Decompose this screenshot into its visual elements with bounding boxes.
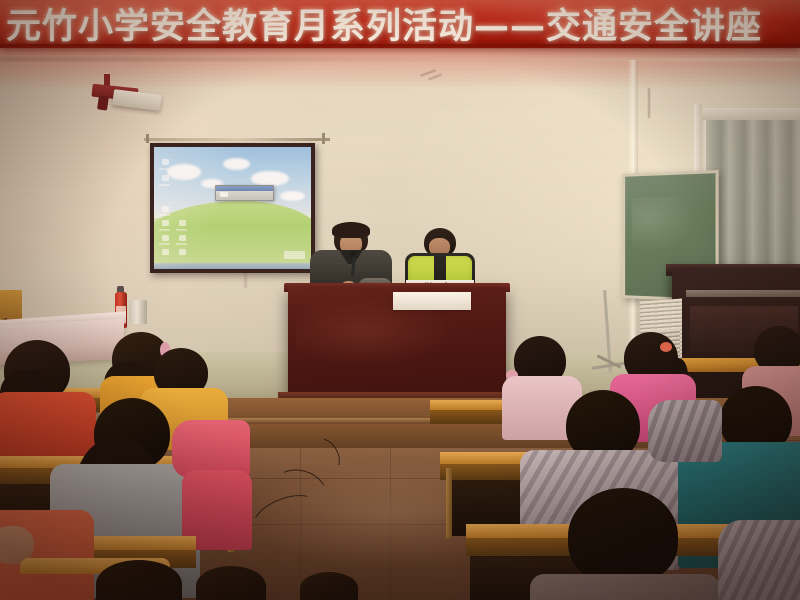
event-banner: 元竹小学安全教育月系列活动——交通安全讲座	[0, 0, 800, 48]
desktop-dialog-window[interactable]	[215, 185, 274, 202]
classroom-photo: 警察	[0, 0, 800, 600]
desk-leg	[446, 468, 452, 538]
wall-banner-glow	[0, 44, 800, 90]
ceiling-line	[0, 58, 800, 61]
screen-hook-right	[322, 133, 325, 144]
desktop-icon[interactable]	[162, 220, 169, 226]
dialog-icon	[220, 192, 228, 197]
student-top	[530, 574, 720, 600]
desktop-icon[interactable]	[162, 175, 169, 181]
screen-rod	[144, 138, 330, 141]
desktop-icon[interactable]	[162, 249, 169, 255]
desktop-icon-label	[159, 214, 170, 216]
chair	[0, 290, 22, 320]
student-top	[718, 520, 800, 600]
desktop-icon-label	[176, 229, 187, 231]
student-head	[568, 488, 678, 584]
system-tray[interactable]	[284, 251, 304, 260]
microphone-icon	[350, 251, 356, 257]
banner-title: 元竹小学安全教育月系列活动——交通安全讲座	[6, 0, 800, 47]
taskbar[interactable]	[154, 263, 311, 269]
projected-desktop	[154, 147, 311, 269]
desktop-icon[interactable]	[179, 249, 186, 255]
desktop-icon[interactable]	[162, 235, 169, 241]
curtain-rail	[700, 108, 800, 120]
cloud-icon	[223, 158, 250, 170]
cloud-icon	[251, 171, 289, 186]
desktop-icon-label	[176, 243, 187, 245]
desktop-icon-label	[159, 243, 170, 245]
projector-lens	[97, 95, 109, 110]
student-sleeve	[648, 400, 722, 462]
desktop-icon-label	[159, 229, 170, 231]
chalk-dust	[632, 196, 695, 253]
cloud-icon	[167, 164, 202, 180]
dialog-title-bar	[216, 186, 273, 192]
speaker-hair	[332, 222, 370, 238]
desktop-icon[interactable]	[162, 159, 169, 165]
student-top	[0, 392, 96, 462]
student-head	[96, 560, 182, 600]
desktop-icon[interactable]	[162, 206, 169, 212]
projection-screen	[150, 143, 315, 273]
desktop-icon-label	[159, 168, 170, 170]
desktop-icon[interactable]	[179, 220, 186, 226]
hair-clip-icon	[660, 342, 672, 352]
piano-keys	[686, 290, 800, 297]
bucket	[129, 300, 147, 324]
banner-shadow	[0, 44, 800, 49]
podium-sign	[393, 292, 471, 310]
screen-hook-left	[146, 134, 149, 143]
student-head	[300, 572, 358, 600]
desktop-icon-label	[159, 184, 170, 186]
student-head	[196, 566, 266, 600]
cloud-icon	[280, 191, 305, 201]
wall-crack	[648, 88, 650, 118]
desktop-icon[interactable]	[179, 235, 186, 241]
